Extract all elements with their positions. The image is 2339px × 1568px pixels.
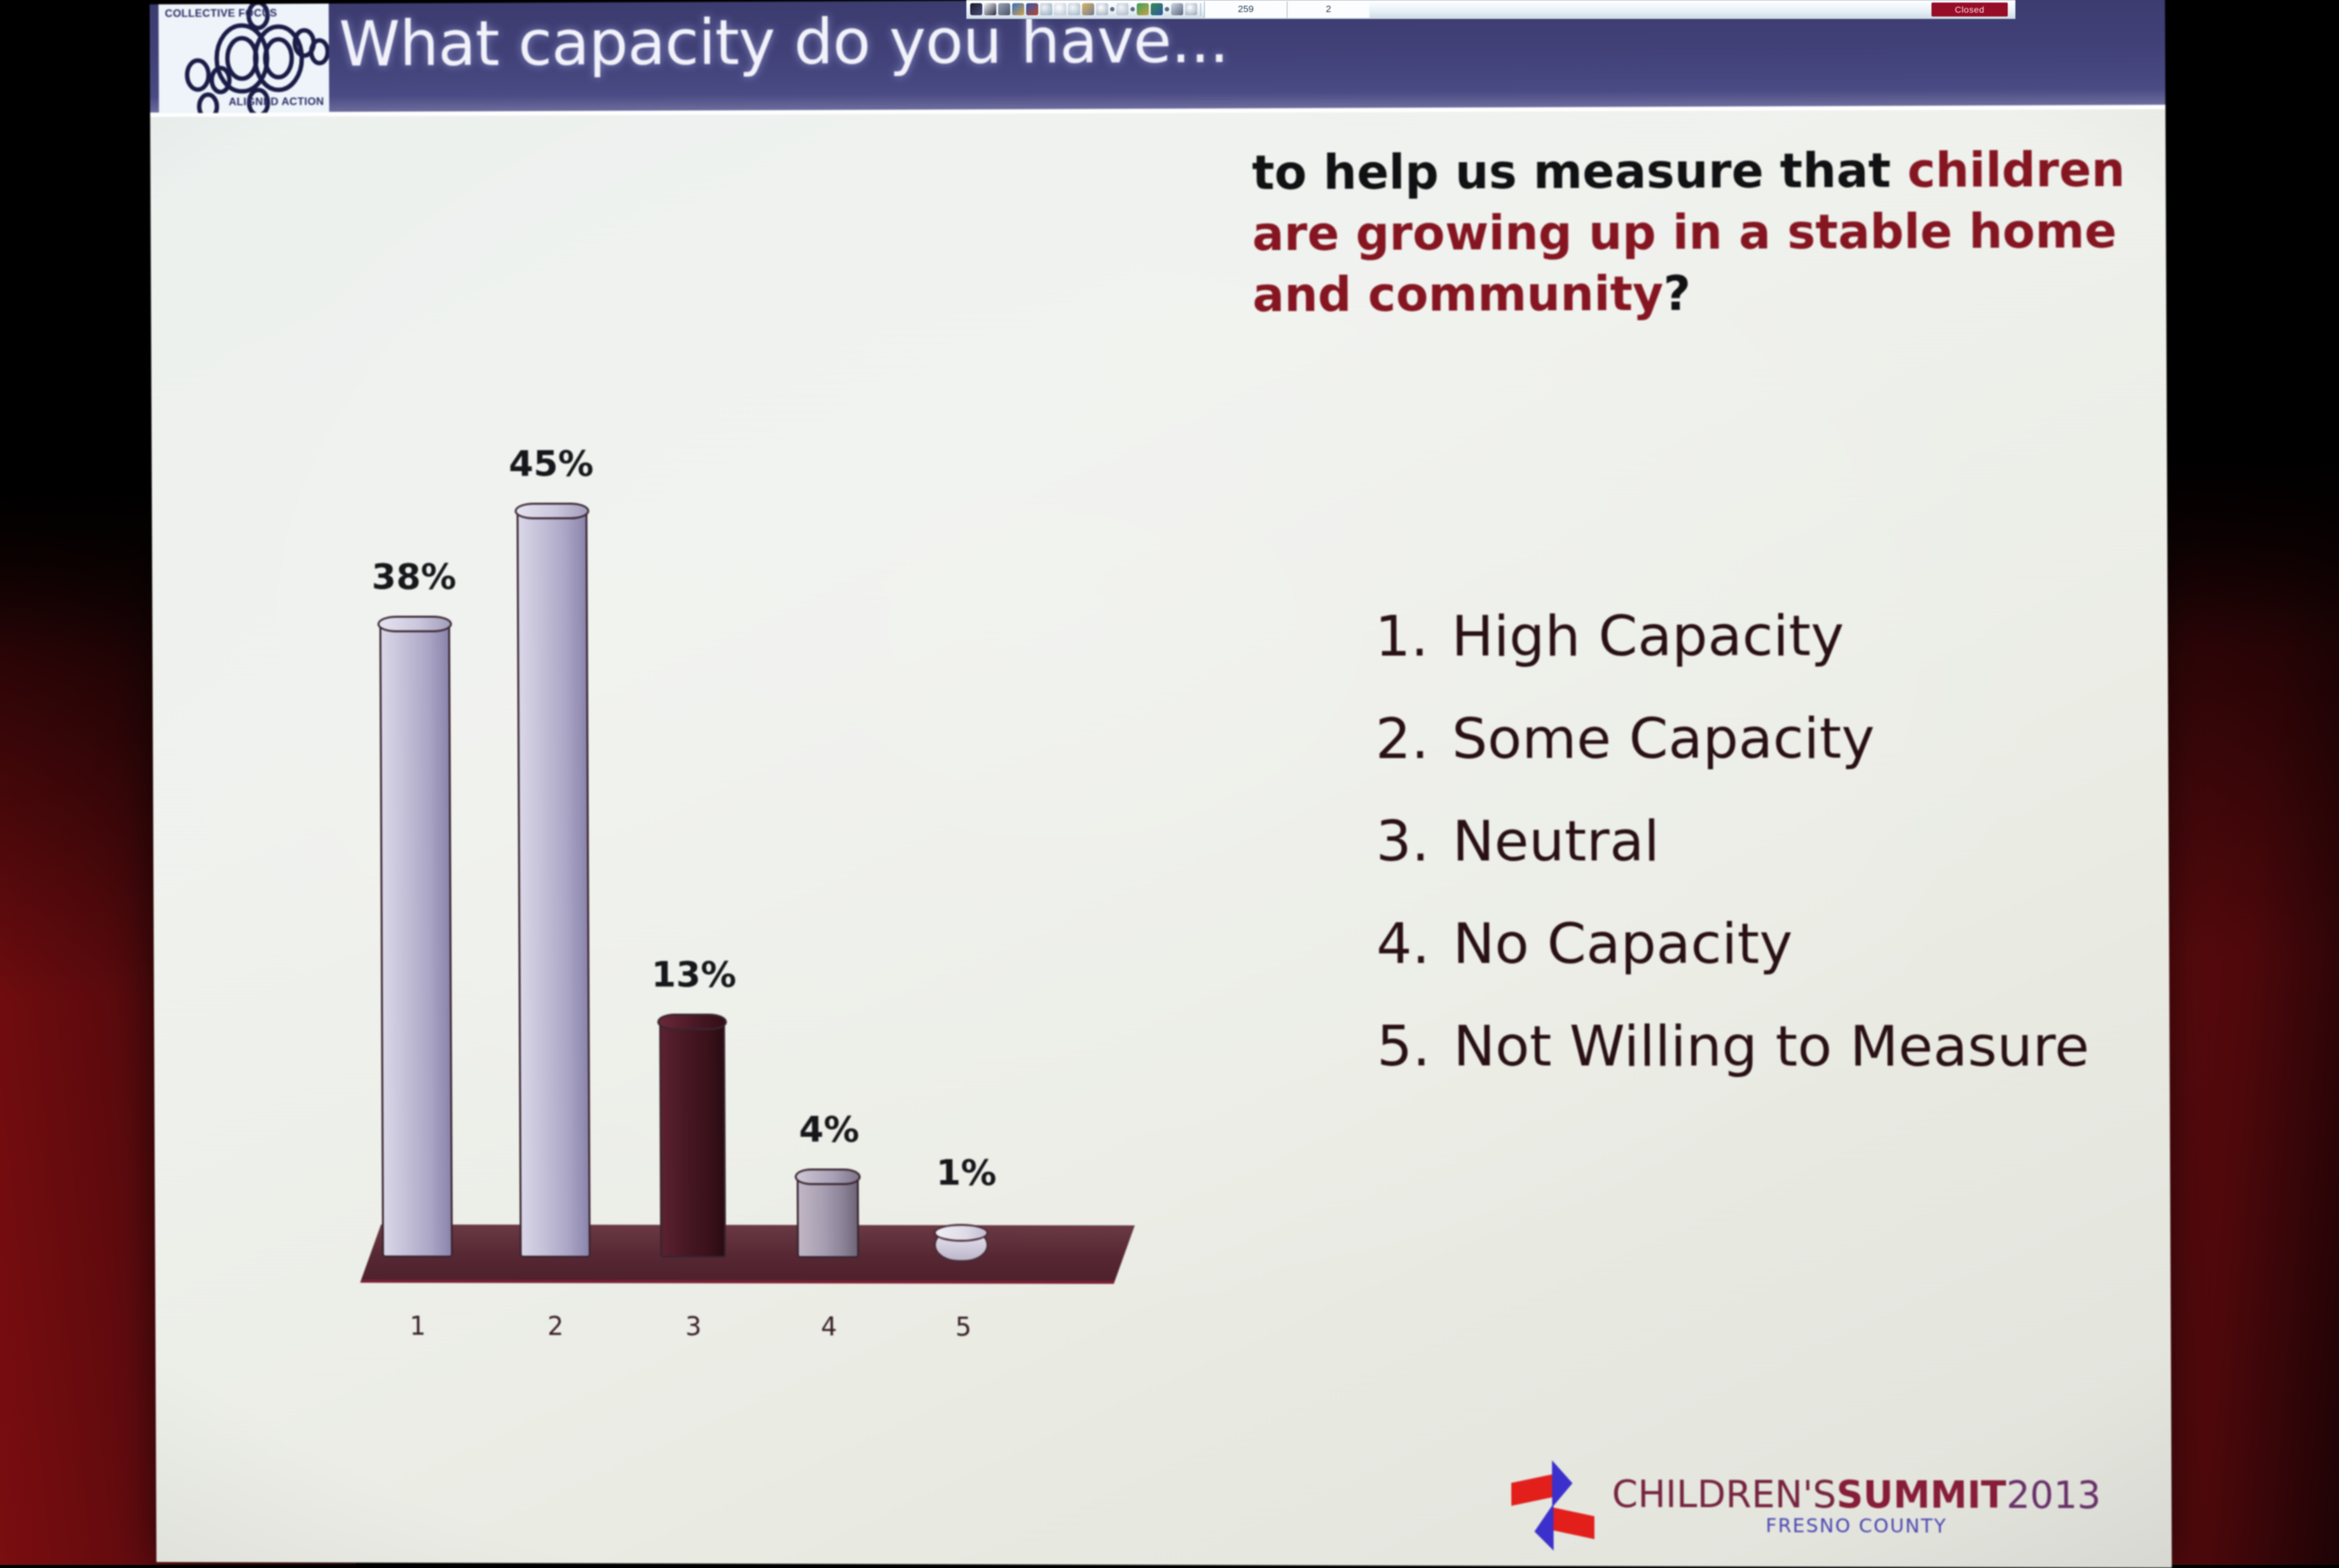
answer-label-4: No Capacity: [1453, 911, 1793, 976]
status-badge[interactable]: Closed: [1931, 3, 2008, 17]
polling-toolbar[interactable]: 259 2 Closed: [966, 0, 2015, 19]
answer-option-4[interactable]: 4. No Capacity: [1376, 911, 2176, 977]
logo-bottom-text: ALIGNED ACTION: [229, 96, 324, 107]
bar-5-value: 1%: [936, 1152, 996, 1194]
participant-count-field[interactable]: 259: [1204, 1, 1287, 18]
subtitle-tail: ?: [1663, 267, 1691, 322]
brand-summit: SUMMIT: [1836, 1473, 2006, 1517]
slide-canvas: COLLECTIVE FOCUS ALIGNED ACTION What cap…: [149, 0, 2172, 1568]
logo-top-text: COLLECTIVE FOCUS: [165, 8, 277, 20]
bar-2-cap: [514, 503, 589, 519]
shape-icon[interactable]: [1116, 3, 1128, 15]
toolbar-icon-group[interactable]: [966, 3, 1197, 15]
answer-number-3: 3.: [1376, 808, 1453, 874]
answer-label-2: Some Capacity: [1451, 706, 1875, 772]
dot2-icon[interactable]: [1130, 7, 1135, 11]
pen-icon[interactable]: [1171, 3, 1183, 15]
document-icon[interactable]: [970, 3, 982, 15]
person-icon[interactable]: [1096, 3, 1108, 15]
answer-number-4: 4.: [1376, 911, 1453, 976]
bar-3-body: [659, 1022, 726, 1258]
answer-option-5[interactable]: 5. Not Willing to Measure: [1376, 1013, 2176, 1079]
bar-1-body: [380, 624, 453, 1258]
badge-icon[interactable]: [1151, 3, 1163, 15]
disc-icon[interactable]: [1054, 3, 1066, 15]
brand-county: FRESNO COUNTY: [1612, 1517, 2101, 1537]
paint-icon[interactable]: [1137, 3, 1149, 15]
dot-icon[interactable]: [1110, 7, 1115, 11]
footer-brand-line1: CHILDREN'SSUMMIT2013: [1612, 1476, 2101, 1514]
collective-focus-logo: COLLECTIVE FOCUS ALIGNED ACTION: [158, 4, 329, 113]
answer-option-2[interactable]: 2. Some Capacity: [1375, 705, 2174, 772]
brand-year: 2013: [2006, 1473, 2101, 1517]
chart-bars: 38% 45% 13% 4%: [341, 407, 1232, 1399]
bar-2: [517, 511, 591, 1258]
brand-children: CHILDREN'S: [1612, 1473, 1836, 1517]
x-axis-label-2: 2: [530, 1312, 581, 1341]
answer-label-5: Not Willing to Measure: [1453, 1014, 2090, 1079]
image-icon[interactable]: [1026, 3, 1038, 15]
bar-5: [934, 1228, 989, 1262]
answer-number-2: 2.: [1375, 706, 1452, 772]
answer-option-3[interactable]: 3. Neutral: [1376, 808, 2175, 874]
bar-3-value: 13%: [651, 954, 736, 995]
bar-2-body: [517, 511, 591, 1258]
bar-3: [659, 1022, 726, 1258]
answer-number-1: 1.: [1375, 603, 1451, 669]
subtitle-lead: to help us measure that: [1252, 144, 1907, 201]
bar-4-value: 4%: [799, 1109, 860, 1150]
timer-icon[interactable]: [1185, 3, 1197, 15]
bar-1-value: 38%: [371, 556, 456, 597]
bar-1-cap: [378, 616, 452, 632]
footer-brand-text: CHILDREN'SSUMMIT2013 FRESNO COUNTY: [1612, 1476, 2101, 1537]
answer-number-5: 5.: [1376, 1013, 1453, 1079]
response-count-field[interactable]: 2: [1287, 1, 1369, 18]
toolbar-divider-1: [1200, 3, 1201, 16]
x-axis-label-1: 1: [392, 1312, 443, 1341]
answer-label-1: High Capacity: [1451, 603, 1844, 669]
x-axis-label-3: 3: [668, 1312, 719, 1342]
pinwheel-icon: [1504, 1457, 1600, 1553]
childrens-summit-logo: CHILDREN'SSUMMIT2013 FRESNO COUNTY: [1504, 1457, 2101, 1555]
x-axis-label-5: 5: [938, 1312, 989, 1342]
x-axis-label-4: 4: [804, 1312, 854, 1342]
results-bar-chart: 38% 45% 13% 4%: [341, 407, 1232, 1399]
tool-icon[interactable]: [998, 3, 1010, 15]
bar-2-value: 45%: [509, 443, 594, 484]
answer-label-3: Neutral: [1452, 809, 1659, 874]
clock-icon[interactable]: [1068, 3, 1080, 15]
projected-slide: COLLECTIVE FOCUS ALIGNED ACTION What cap…: [149, 0, 2172, 1568]
bar-4-cap: [795, 1168, 861, 1185]
globe-icon[interactable]: [1040, 3, 1052, 15]
slide-subtitle: to help us measure that children are gro…: [1252, 139, 2160, 326]
bar-4-body: [797, 1176, 859, 1258]
folder-icon[interactable]: [1082, 3, 1094, 15]
bar-3-cap: [657, 1014, 727, 1030]
bar-1: [380, 624, 453, 1258]
chart-icon[interactable]: [1012, 3, 1024, 15]
bar-4: [797, 1176, 859, 1258]
answer-options-list: 1. High Capacity 2. Some Capacity 3. Neu…: [1375, 602, 2176, 1116]
dot3-icon[interactable]: [1165, 7, 1169, 11]
pointer-icon[interactable]: [984, 3, 996, 15]
answer-option-1[interactable]: 1. High Capacity: [1375, 602, 2174, 669]
